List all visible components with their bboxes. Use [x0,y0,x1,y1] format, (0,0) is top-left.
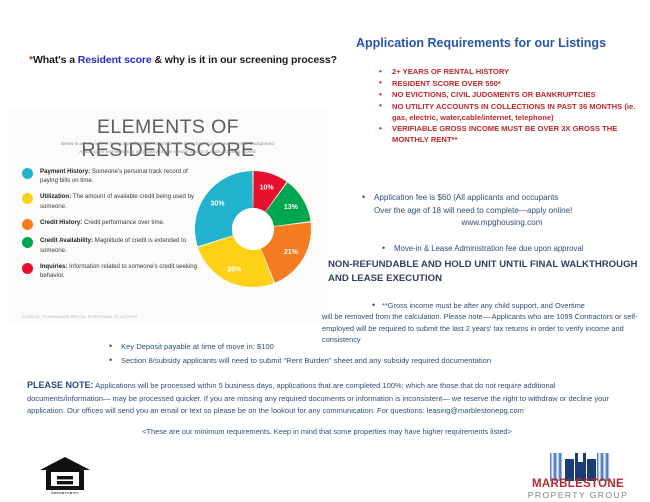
infographic-subtitle-line2: Actual score elements may vary based on … [79,149,256,154]
requirement-item: NO EVICTIONS, CIVIL JUDGMENTS OR BANKRUP… [378,89,646,100]
requirement-item: NO UTILITY ACCOUNTS IN COLLECTIONS IN PA… [378,101,646,123]
gross-income-note-lead: **Gross income must be after any child s… [322,300,650,311]
legend-dot-credit-availability [22,237,33,248]
please-note-paragraph: PLEASE NOTE: Applications will be proces… [27,378,627,417]
left-column: *What's a Resident score & why is it in … [0,0,340,335]
donut-hole [232,208,274,250]
question-post: & why is it in our screening process? [152,54,337,66]
application-requirements-title: Application Requirements for our Listing… [356,36,606,50]
legend-dot-payment-history [22,168,33,179]
legend-label-utilization: Utilization: The amount of available cre… [40,192,200,211]
legend-item-payment-history: Payment History: Someone's personal trac… [22,167,200,186]
please-note-body: Applications will be processed within 5 … [27,381,609,415]
eho-caption: EQUAL HOUSING OPPORTUNITY [30,488,100,496]
legend-term-inquiries: Inquiries: [40,263,67,270]
application-fee-line2: Over the age of 18 will need to complete… [360,205,644,218]
donut-slice-label: 13% [284,204,299,211]
bullet-section8-subsidy: Section 8/subsidy applicants will need t… [108,355,578,366]
requirement-item: 2+ YEARS OF RENTAL HISTORY [378,66,646,77]
infographic-subtitle-line1: Below is an example of how a typical Res… [61,141,275,146]
legend-label-payment-history: Payment History: Someone's personal trac… [40,167,200,186]
legend-term-payment-history: Payment History: [40,168,90,175]
residentscore-infographic: ELEMENTS OF RESIDENTSCORE Below is an ex… [8,110,328,325]
residentscore-donut-chart: 10%13%21%26%30% [194,170,312,288]
legend-term-credit-availability: Credit Availability: [40,237,93,244]
legend-item-inquiries: Inquiries: Information related to someon… [22,262,200,281]
chart-source-note: SOURCE: TRANSUNION RENTAL SCREENING SOLU… [22,315,138,319]
requirement-item: RESIDENT SCORE OVER 550* [378,78,646,89]
donut-slice-label: 30% [210,201,225,208]
legend-dot-inquiries [22,263,33,274]
chart-legend: Payment History: Someone's personal trac… [22,167,200,287]
bullet-key-deposit: Key Deposit payable at time of move in: … [108,341,578,352]
please-note-label: PLEASE NOTE: [27,380,94,390]
application-fee-block: Application fee is $60 (All applicants a… [360,192,644,230]
infographic-subtitle: Below is an example of how a typical Res… [22,140,314,156]
legend-label-credit-availability: Credit Availability: Magnitude of credit… [40,236,200,255]
question-pre: What's a [33,54,78,66]
gross-income-note-rest: will be removed from the calculation. Pl… [322,312,638,344]
gross-income-note: **Gross income must be after any child s… [322,300,650,345]
movein-fee-bullet: Move-in & Lease Administration fee due u… [380,244,646,253]
requirement-item: VERIFIABLE GROSS INCOME MUST BE OVER 3X … [378,123,646,145]
legend-item-credit-history: Credit History: Credit performance over … [22,218,200,230]
legend-item-utilization: Utilization: The amount of available cre… [22,192,200,211]
donut-slice-label: 21% [284,249,299,256]
legend-desc-credit-history: Credit performance over time. [82,219,164,226]
application-website-link[interactable]: www.mpghousing.com [360,217,644,230]
legend-term-credit-history: Credit History: [40,219,82,226]
legend-dot-credit-history [22,219,33,230]
donut-chart-svg: 10%13%21%26%30% [194,170,312,288]
resident-score-question: *What's a Resident score & why is it in … [29,54,337,66]
legend-item-credit-availability: Credit Availability: Magnitude of credit… [22,236,200,255]
additional-bullets: Key Deposit payable at time of move in: … [108,341,578,370]
legend-label-inquiries: Inquiries: Information related to someon… [40,262,200,281]
legend-dot-utilization [22,193,33,204]
eho-caption-line2: OPPORTUNITY [51,491,79,495]
donut-slice-label: 10% [260,185,275,192]
marblestone-wordmark: MARBLESTONE [512,478,644,490]
legend-term-utilization: Utilization: [40,193,71,200]
minimum-requirements-line: <These are our minimum requirements. Kee… [27,427,627,436]
nonrefundable-notice: NON-REFUNDABLE AND HOLD UNIT UNTIL FINAL… [328,258,650,285]
legend-label-credit-history: Credit History: Credit performance over … [40,218,165,227]
question-highlight: Resident score [78,54,152,66]
right-column: Application Requirements for our Listing… [336,0,650,340]
requirements-list: 2+ YEARS OF RENTAL HISTORY RESIDENT SCOR… [378,66,646,146]
donut-slice-label: 26% [227,266,242,273]
application-fee-line1: Application fee is $60 (All applicants a… [360,192,644,205]
